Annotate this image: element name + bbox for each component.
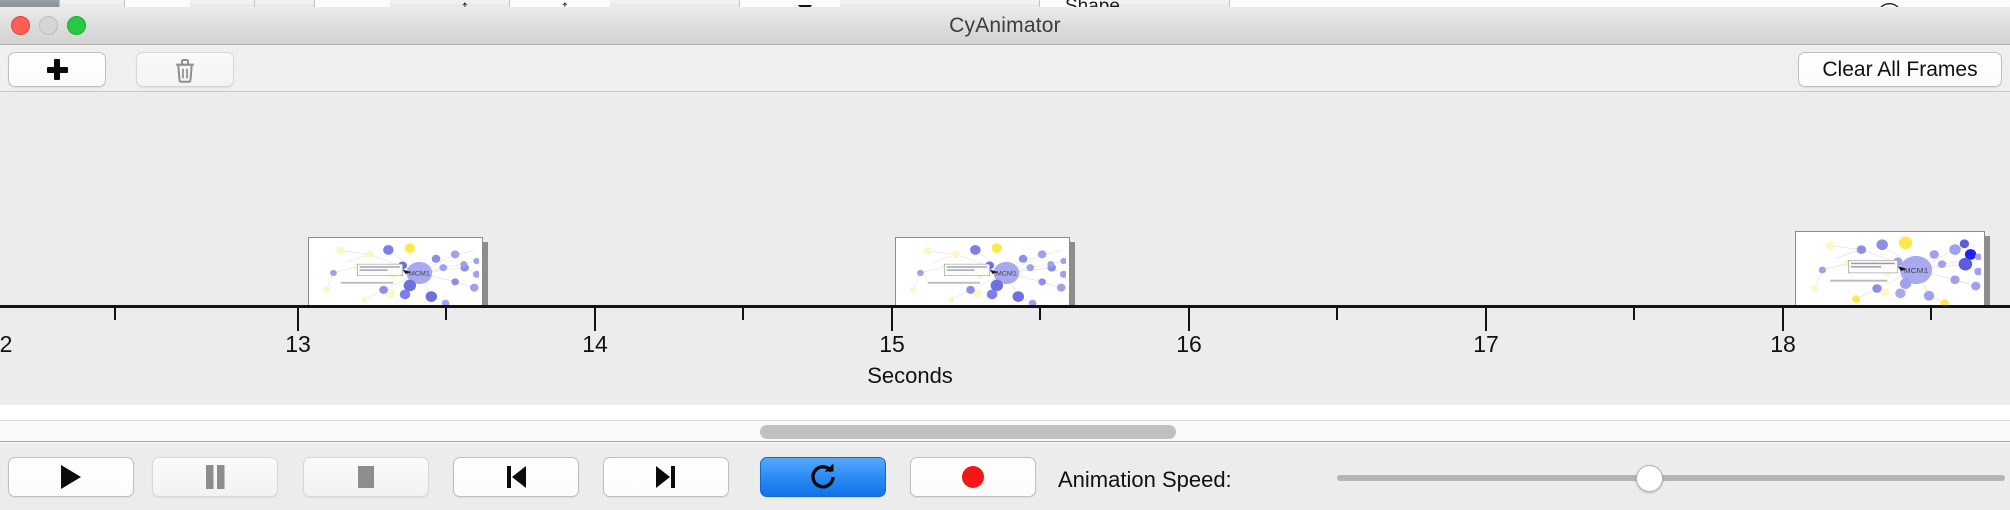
axis-tick-major [297,308,299,331]
axis-tick-major [1188,308,1190,331]
axis-tick-minor [742,308,744,320]
loop-button[interactable] [760,457,886,497]
axis-tick-major [594,308,596,331]
timeline-axis[interactable]: 2 13 14 15 16 17 18 Seconds [0,305,2010,405]
skip-forward-icon [652,463,680,491]
timeline-scrollbar[interactable] [0,420,2010,442]
playback-controls-bar: Animation Speed: [0,443,2010,510]
axis-label: 14 [582,331,608,358]
timeline-frame[interactable]: MCM1 [895,237,1070,309]
axis-tick-minor [1633,308,1635,320]
network-thumbnail: MCM1 [899,241,1066,305]
axis-label: 15 [879,331,905,358]
network-thumbnail: MCM1 [312,241,479,305]
axis-label: 17 [1473,331,1499,358]
animation-speed-label: Animation Speed: [1058,467,1232,493]
axis-tick-minor [114,308,116,320]
axis-tick-major [1782,308,1784,331]
title-bar[interactable]: CyAnimator [0,7,2010,45]
axis-line [0,305,2010,308]
axis-label: 16 [1176,331,1202,358]
pause-icon [202,463,228,491]
axis-tick-minor [1039,308,1041,320]
animation-speed-slider-thumb[interactable] [1636,465,1663,492]
trash-icon [173,57,197,83]
network-thumbnail: MCM1 [1799,235,1981,305]
network-graph-icon: MCM1 [1799,235,1981,305]
loop-icon [808,462,838,492]
play-icon [58,463,84,491]
axis-label: 2 [0,331,12,358]
record-icon [959,463,987,491]
frame-toolbar: Clear All Frames [0,45,2010,92]
skip-start-button[interactable] [453,457,579,497]
axis-title: Seconds [0,363,1820,389]
svg-text:MCM1: MCM1 [1904,266,1929,275]
axis-tick-major [891,308,893,331]
plus-icon [47,59,68,80]
svg-text:MCM1: MCM1 [996,271,1017,278]
axis-tick-major [1485,308,1487,331]
skip-end-button[interactable] [603,457,729,497]
stop-button[interactable] [303,457,429,497]
axis-label: 18 [1770,331,1796,358]
pause-button[interactable] [152,457,278,497]
cyanimator-window: ↑ ↑ Shape ⌒ CyAnimator Clear All [0,0,2010,510]
timeline-frames-area[interactable]: MCM1 [0,92,2010,322]
animation-speed-slider[interactable] [1337,475,2005,481]
axis-tick-minor [445,308,447,320]
clear-all-frames-label: Clear All Frames [1822,58,1977,82]
clear-all-frames-button[interactable]: Clear All Frames [1798,52,2002,87]
delete-frame-button[interactable] [136,52,234,87]
timeline-frame[interactable]: MCM1 [1795,231,1985,309]
network-graph-icon: MCM1 [312,241,479,305]
add-frame-button[interactable] [8,52,106,87]
timeline-frame[interactable]: MCM1 [308,237,483,309]
record-button[interactable] [910,457,1036,497]
play-button[interactable] [8,457,134,497]
axis-tick-minor [1336,308,1338,320]
axis-tick-minor [1930,308,1932,320]
network-graph-icon: MCM1 [899,241,1066,305]
window-title: CyAnimator [0,14,2010,38]
stop-icon [353,463,379,491]
axis-label: 13 [285,331,311,358]
scrollbar-thumb[interactable] [760,425,1176,439]
skip-back-icon [502,463,530,491]
svg-text:MCM1: MCM1 [409,271,430,278]
